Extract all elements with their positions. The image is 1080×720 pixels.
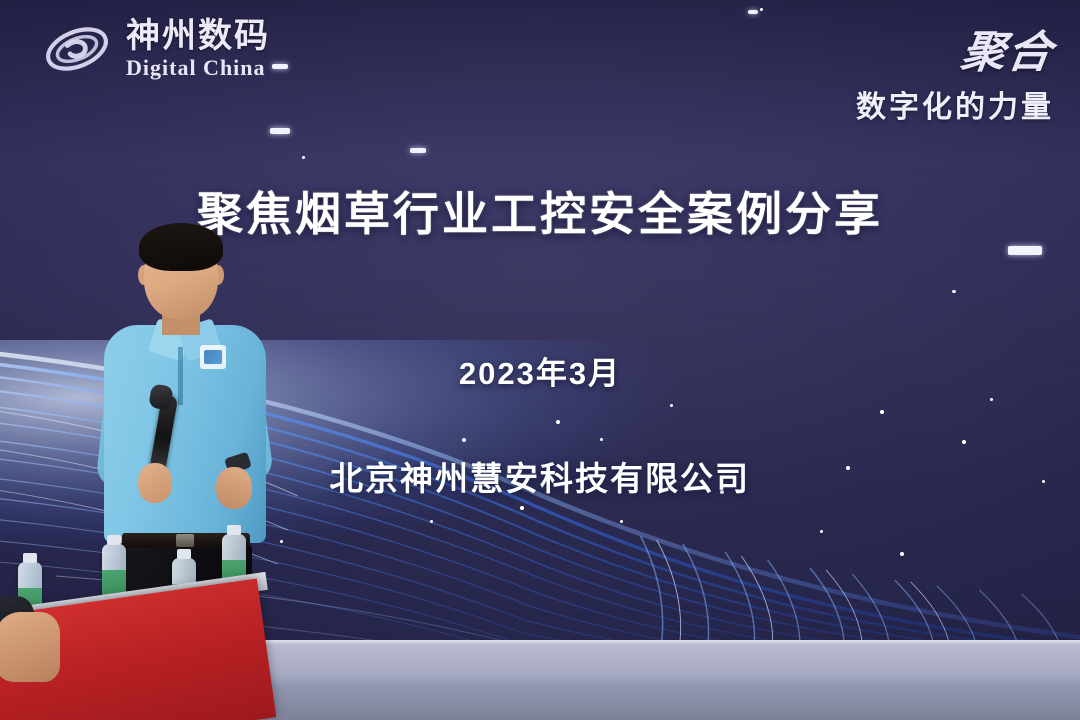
speaker-belt-buckle [176,534,194,547]
speaker-chest-badge-icon [200,345,226,369]
conference-photo: 神州数码 Digital China 聚合 数字化的力量 聚焦烟草行业工控安全案… [0,0,1080,720]
speaker-polo-shirt [104,325,266,543]
speaker-hair [139,223,223,271]
brand-name-en: Digital China [126,57,270,79]
swirl-spiral-logo-icon [42,18,112,80]
brand-lockup: 神州数码 Digital China [42,18,270,80]
event-slogan: 聚合 数字化的力量 [856,16,1054,126]
slogan-subtitle: 数字化的力量 [856,82,1054,126]
speaker-left-hand [138,463,172,503]
attendee-hand [0,612,60,682]
brand-name-cn: 神州数码 [126,19,270,53]
slogan-calligraphy: 聚合 [958,16,1059,80]
speaker-right-hand [216,467,252,509]
speaker-shirt-placket [178,347,183,405]
